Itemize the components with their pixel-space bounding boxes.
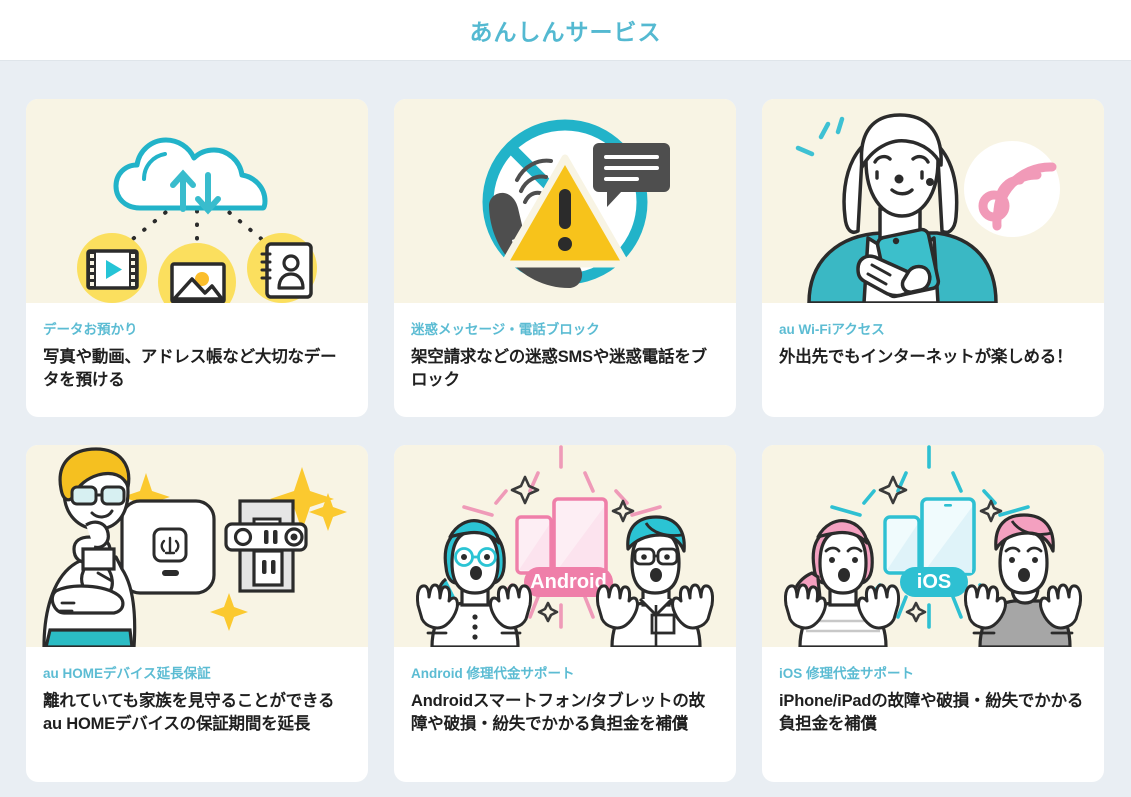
card-label: au Wi-Fiアクセス	[779, 321, 1087, 339]
card-body: データお預かり 写真や動画、アドレス帳など大切なデータを預ける	[26, 303, 368, 417]
card-description: 外出先でもインターネットが楽しめる！	[779, 346, 1087, 369]
service-card-au-wifi-access[interactable]: au Wi-Fiアクセス 外出先でもインターネットが楽しめる！	[762, 99, 1104, 417]
page-header: あんしんサービス	[0, 0, 1131, 61]
cloud-backup-icon	[26, 99, 368, 303]
card-label: iOS 修理代金サポート	[779, 665, 1087, 683]
svg-text:iOS: iOS	[917, 571, 951, 593]
service-card-ios-repair-support[interactable]: iOS	[762, 445, 1104, 782]
card-label: au HOMEデバイス延長保証	[43, 665, 351, 683]
card-body: 迷惑メッセージ・電話ブロック 架空請求などの迷惑SMSや迷惑電話をブロック	[394, 303, 736, 417]
card-body: au Wi-Fiアクセス 外出先でもインターネットが楽しめる！	[762, 303, 1104, 417]
service-card-spam-block[interactable]: 迷惑メッセージ・電話ブロック 架空請求などの迷惑SMSや迷惑電話をブロック	[394, 99, 736, 417]
service-card-android-repair-support[interactable]: Android	[394, 445, 736, 782]
spam-block-icon	[394, 99, 736, 303]
card-label: Android 修理代金サポート	[411, 665, 719, 683]
card-description: 離れていても家族を見守ることができるau HOMEデバイスの保証期間を延長	[43, 690, 351, 737]
card-body: au HOMEデバイス延長保証 離れていても家族を見守ることができるau HOM…	[26, 647, 368, 782]
card-description: iPhone/iPadの故障や破損・紛失でかかる負担金を補償	[779, 690, 1087, 737]
woman-smartphone-wifi-icon	[762, 99, 1104, 303]
service-card-data-backup[interactable]: データお預かり 写真や動画、アドレス帳など大切なデータを預ける	[26, 99, 368, 417]
man-smart-device-icon	[26, 445, 368, 647]
card-label: データお預かり	[43, 321, 351, 339]
android-devices-people-icon: Android	[394, 445, 736, 647]
content-area: データお預かり 写真や動画、アドレス帳など大切なデータを預ける	[0, 61, 1131, 797]
card-body: Android 修理代金サポート Androidスマートフォン/タブレットの故障…	[394, 647, 736, 782]
page-title: あんしんサービス	[470, 13, 662, 47]
card-description: 写真や動画、アドレス帳など大切なデータを預ける	[43, 346, 351, 393]
card-body: iOS 修理代金サポート iPhone/iPadの故障や破損・紛失でかかる負担金…	[762, 647, 1104, 782]
svg-text:Android: Android	[530, 571, 607, 593]
card-label: 迷惑メッセージ・電話ブロック	[411, 321, 719, 339]
ios-devices-people-icon: iOS	[762, 445, 1104, 647]
card-description: Androidスマートフォン/タブレットの故障や破損・紛失でかかる負担金を補償	[411, 690, 719, 737]
service-card-au-home-warranty[interactable]: au HOMEデバイス延長保証 離れていても家族を見守ることができるau HOM…	[26, 445, 368, 782]
service-card-grid: データお預かり 写真や動画、アドレス帳など大切なデータを預ける	[26, 99, 1105, 782]
card-description: 架空請求などの迷惑SMSや迷惑電話をブロック	[411, 346, 719, 393]
